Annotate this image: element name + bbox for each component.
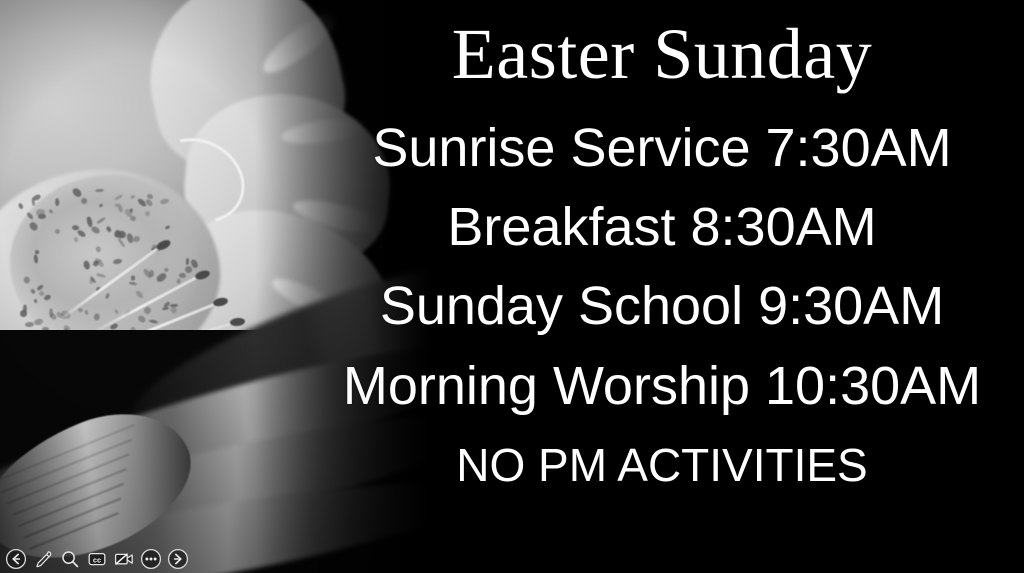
slide-canvas: Easter Sunday Sunrise Service 7:30AM Bre…	[0, 0, 1024, 573]
cc-icon[interactable]: cc	[85, 547, 109, 571]
schedule-line-morning-worship: Morning Worship 10:30AM	[343, 358, 981, 415]
more-options-icon[interactable]	[139, 547, 163, 571]
schedule-line-sunday-school: Sunday School 9:30AM	[380, 278, 944, 335]
schedule-line-breakfast: Breakfast 8:30AM	[447, 199, 876, 256]
pen-icon[interactable]	[31, 547, 55, 571]
schedule-line-no-pm-activities: NO PM ACTIVITIES	[456, 441, 868, 490]
svg-text:cc: cc	[93, 555, 101, 564]
camera-off-icon[interactable]	[112, 547, 136, 571]
search-icon[interactable]	[58, 547, 82, 571]
schedule-line-sunrise-service: Sunrise Service 7:30AM	[372, 120, 951, 177]
slide-text-block: Easter Sunday Sunrise Service 7:30AM Bre…	[300, 0, 1024, 545]
page-title: Easter Sunday	[452, 18, 872, 90]
back-arrow-icon[interactable]	[4, 547, 28, 571]
forward-arrow-icon[interactable]	[166, 547, 190, 571]
slideshow-toolbar[interactable]: cc	[4, 547, 190, 571]
